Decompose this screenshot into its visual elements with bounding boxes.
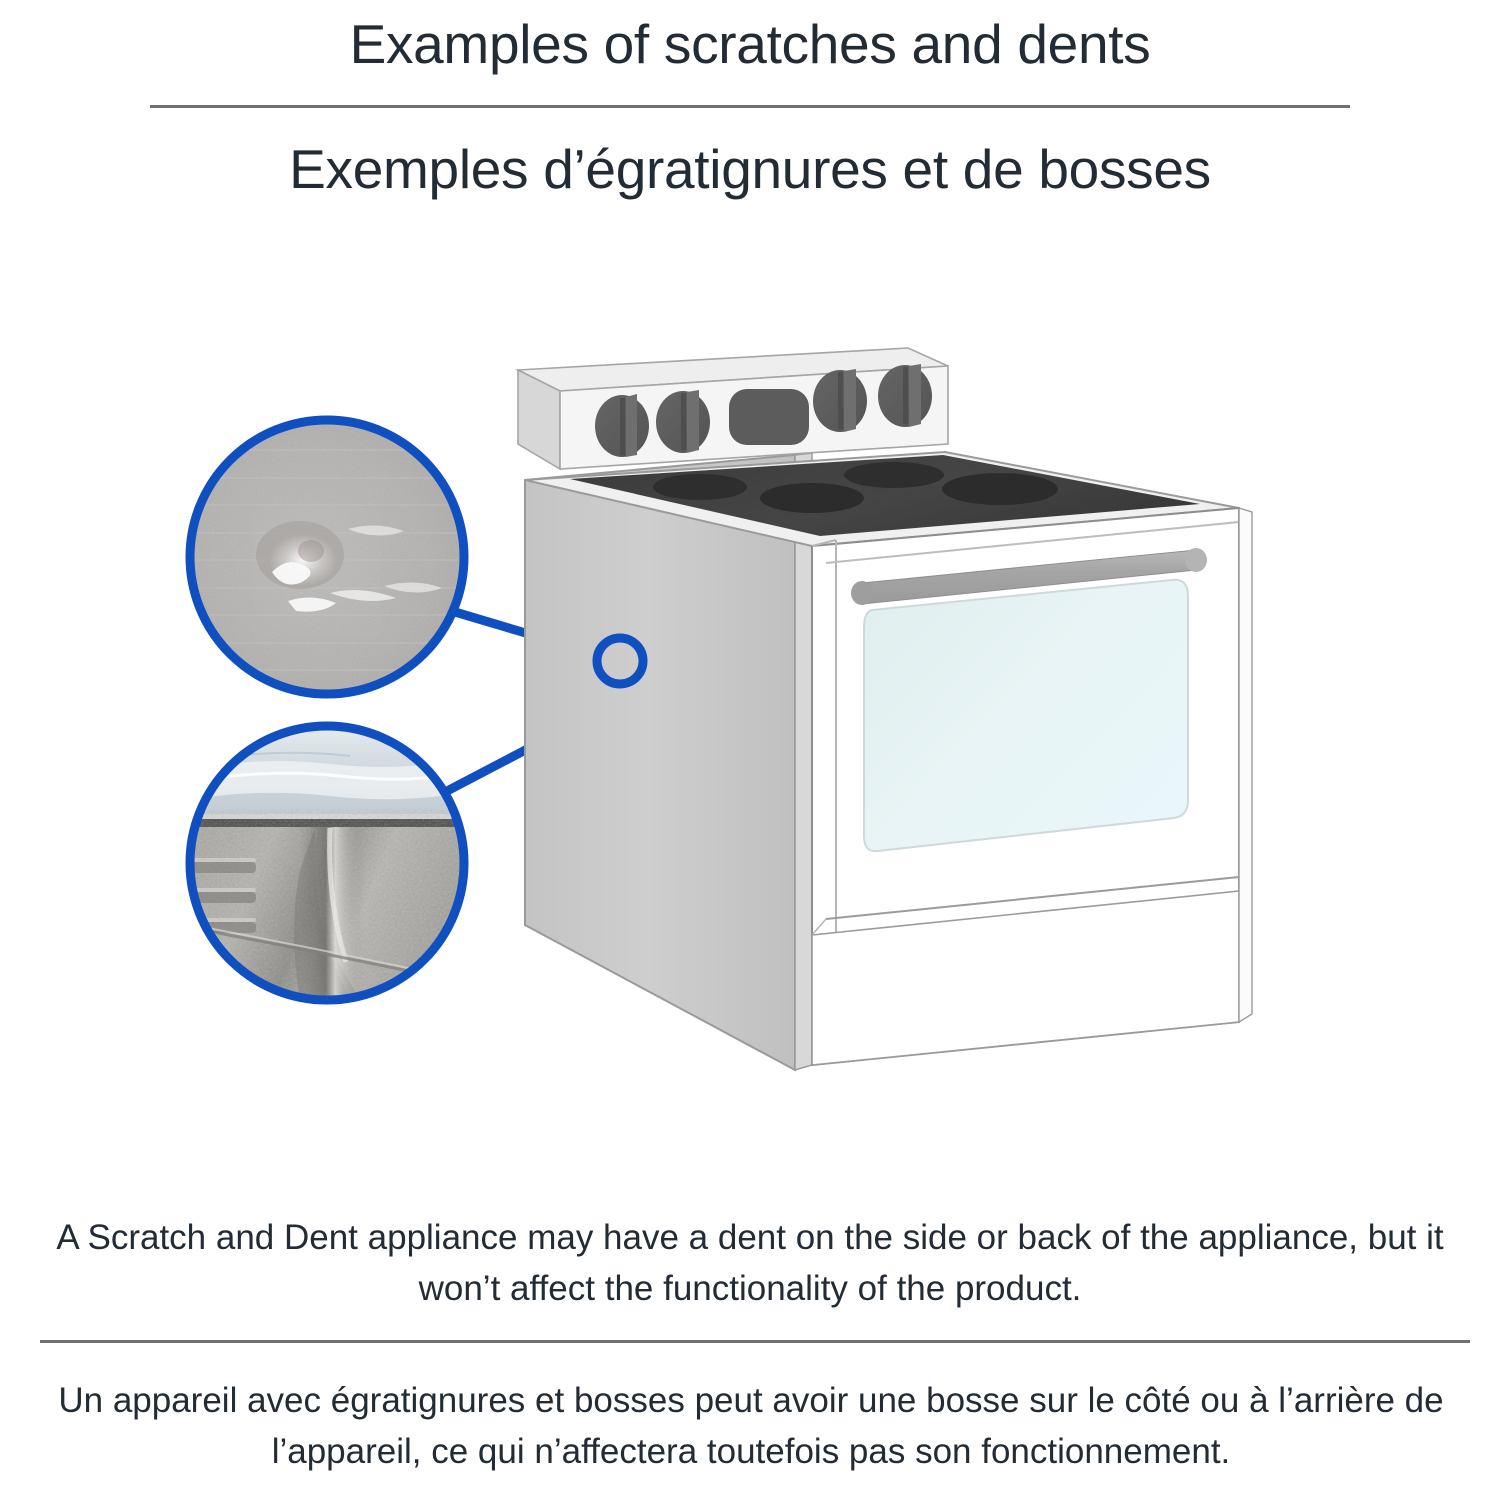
oven-door-top-seam: [826, 522, 1239, 563]
leader-line-dent: [449, 745, 535, 790]
oven-handle-cap-left: [851, 581, 873, 605]
cooktop-rim: [525, 452, 1239, 546]
caption-french: Un appareil avec égratignures et bosses …: [12, 1375, 1490, 1477]
divider-bottom: [40, 1340, 1470, 1343]
callout-dent-closeup: [186, 722, 470, 1000]
callout-target-circle: [597, 638, 643, 684]
control-display-panel[interactable]: [729, 389, 809, 445]
infographic-page: Examples of scratches and dents Exemples…: [0, 0, 1500, 1500]
oven-bottom-drawer[interactable]: [812, 891, 1239, 1065]
stove-control-panel: [518, 348, 948, 469]
burner-rear-left: [653, 474, 747, 500]
oven-drawer-seam: [826, 877, 1239, 919]
control-knob-group[interactable]: [595, 364, 932, 457]
oven-door-window: [864, 580, 1188, 851]
oven-door-handle[interactable]: [862, 550, 1196, 604]
oven-front-jamb-top: [812, 540, 836, 546]
burner-front-left: [760, 483, 864, 513]
cooktop-glass: [570, 455, 1200, 536]
control-panel-top-face: [518, 348, 948, 391]
control-panel-left-face: [518, 370, 560, 469]
oven-handle-cap-right: [1185, 548, 1207, 572]
oven-right-edge: [1239, 508, 1252, 1022]
callout-dent-ring: [190, 726, 464, 1000]
control-knob-4[interactable]: [878, 364, 932, 427]
callout-leader-lines: [449, 612, 613, 790]
page-title-english: Examples of scratches and dents: [0, 8, 1500, 80]
burner-front-right: [942, 473, 1058, 505]
callout-scratch-ring: [190, 420, 464, 694]
control-panel-front-face: [560, 366, 948, 469]
control-knob-3[interactable]: [813, 369, 867, 432]
stove-side-edge: [795, 453, 812, 1070]
stove-side-panel: [525, 455, 795, 1070]
cooktop-burners[interactable]: [653, 462, 1058, 513]
stove-body: [518, 348, 1252, 1070]
oven-front-body: [812, 508, 1239, 1065]
control-knob-1[interactable]: [595, 394, 649, 457]
leader-line-scratch: [455, 612, 613, 659]
oven-drawer-seam-edge: [812, 919, 826, 935]
caption-english: A Scratch and Dent appliance may have a …: [40, 1212, 1460, 1314]
callout-scratch-closeup: [186, 416, 470, 700]
control-knob-2[interactable]: [656, 390, 710, 453]
page-title-french: Exemples d’égratignures et de bosses: [0, 133, 1500, 205]
burner-rear-right: [844, 462, 944, 488]
divider-top: [150, 105, 1350, 108]
